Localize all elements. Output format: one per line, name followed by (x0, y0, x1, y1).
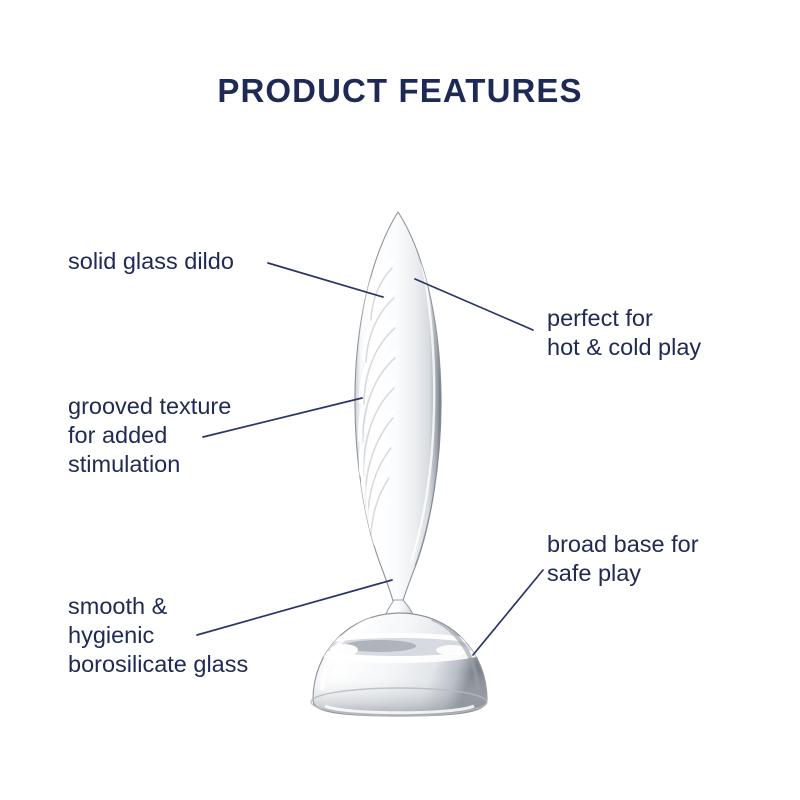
leader-line-solid-glass (268, 263, 383, 297)
leader-lines (0, 0, 800, 800)
leader-line-broad-base (473, 570, 543, 655)
leader-line-perfect (415, 279, 533, 330)
leader-line-grooved (203, 398, 362, 437)
product-features-infographic: PRODUCT FEATURES (0, 0, 800, 800)
leader-line-smooth (197, 580, 392, 635)
